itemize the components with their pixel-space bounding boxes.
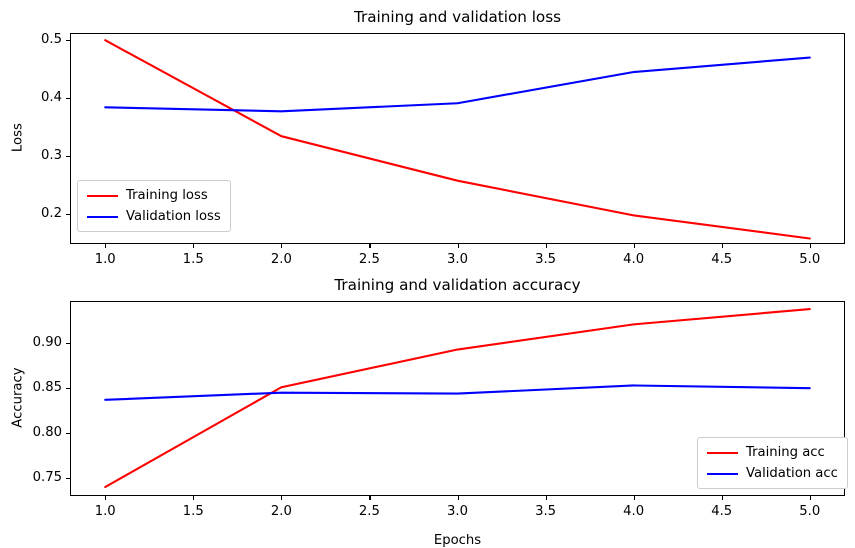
- x-tick-mark: [458, 496, 459, 500]
- legend-item[interactable]: Training acc: [700, 442, 845, 463]
- x-tick-label: 2.0: [251, 505, 311, 518]
- x-tick-mark: [281, 496, 282, 500]
- x-tick-mark: [634, 496, 635, 500]
- x-tick-mark: [193, 496, 194, 500]
- y-tick-label: 0.75: [10, 471, 62, 484]
- x-tick-label: 5.0: [780, 505, 840, 518]
- x-tick-mark: [810, 496, 811, 500]
- x-tick-mark: [105, 496, 106, 500]
- y-tick-mark: [66, 343, 70, 344]
- y-tick-label: 0.90: [10, 336, 62, 349]
- matplotlib-figure: Training and validation loss Loss 0.20.3…: [0, 0, 855, 547]
- legend-accuracy[interactable]: Training accValidation acc: [697, 437, 848, 489]
- x-tick-label: 4.5: [692, 505, 752, 518]
- x-tick-mark: [369, 496, 370, 500]
- legend-color-swatch-icon: [707, 473, 738, 475]
- x-tick-label: 3.5: [516, 505, 576, 518]
- x-tick-label: 4.0: [604, 505, 664, 518]
- y-tick-mark: [66, 478, 70, 479]
- legend-color-swatch-icon: [707, 452, 738, 454]
- y-tick-mark: [66, 388, 70, 389]
- x-tick-mark: [546, 496, 547, 500]
- x-tick-label: 3.0: [428, 505, 488, 518]
- series-line: [105, 385, 810, 399]
- x-tick-mark: [722, 496, 723, 500]
- y-tick-label: 0.80: [10, 426, 62, 439]
- legend-item[interactable]: Validation acc: [700, 463, 845, 484]
- legend-label: Training acc: [746, 446, 825, 459]
- legend-label: Validation acc: [746, 467, 838, 480]
- x-tick-label: 1.0: [75, 505, 135, 518]
- x-tick-label: 1.5: [163, 505, 223, 518]
- y-tick-mark: [66, 433, 70, 434]
- y-tick-label: 0.85: [10, 381, 62, 394]
- x-tick-label: 2.5: [339, 505, 399, 518]
